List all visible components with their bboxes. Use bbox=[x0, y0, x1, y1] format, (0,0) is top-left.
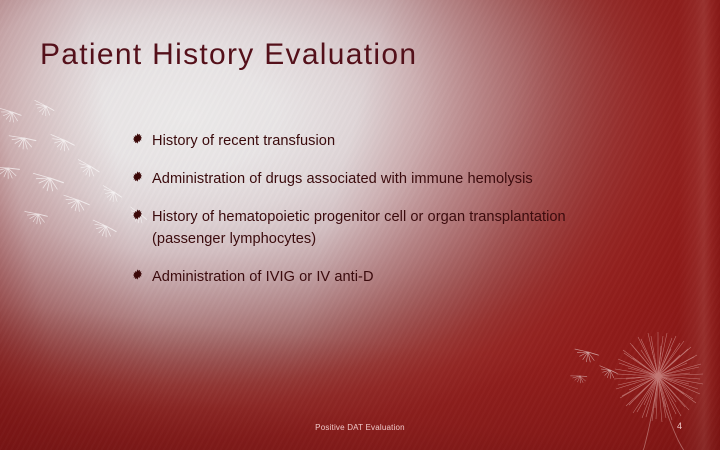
starburst-bullet-icon bbox=[132, 133, 152, 144]
slide-number: 4 bbox=[677, 421, 682, 431]
starburst-bullet-icon bbox=[132, 209, 152, 220]
list-item: Administration of drugs associated with … bbox=[132, 168, 584, 190]
list-item: Administration of IVIG or IV anti-D bbox=[132, 266, 584, 288]
list-item: History of hematopoietic progenitor cell… bbox=[132, 206, 584, 250]
starburst-bullet-icon bbox=[132, 171, 152, 182]
bullet-list: History of recent transfusion Administra… bbox=[132, 130, 584, 304]
starburst-bullet-icon bbox=[132, 269, 152, 280]
page-title: Patient History Evaluation bbox=[40, 38, 417, 72]
list-item-label: History of recent transfusion bbox=[152, 130, 584, 152]
list-item-label: Administration of drugs associated with … bbox=[152, 168, 584, 190]
footer-label: Positive DAT Evaluation bbox=[0, 423, 720, 432]
slide-canvas: Patient History Evaluation History of re… bbox=[0, 0, 720, 450]
list-item-label: History of hematopoietic progenitor cell… bbox=[152, 206, 584, 250]
list-item: History of recent transfusion bbox=[132, 130, 584, 152]
list-item-label: Administration of IVIG or IV anti-D bbox=[152, 266, 584, 288]
